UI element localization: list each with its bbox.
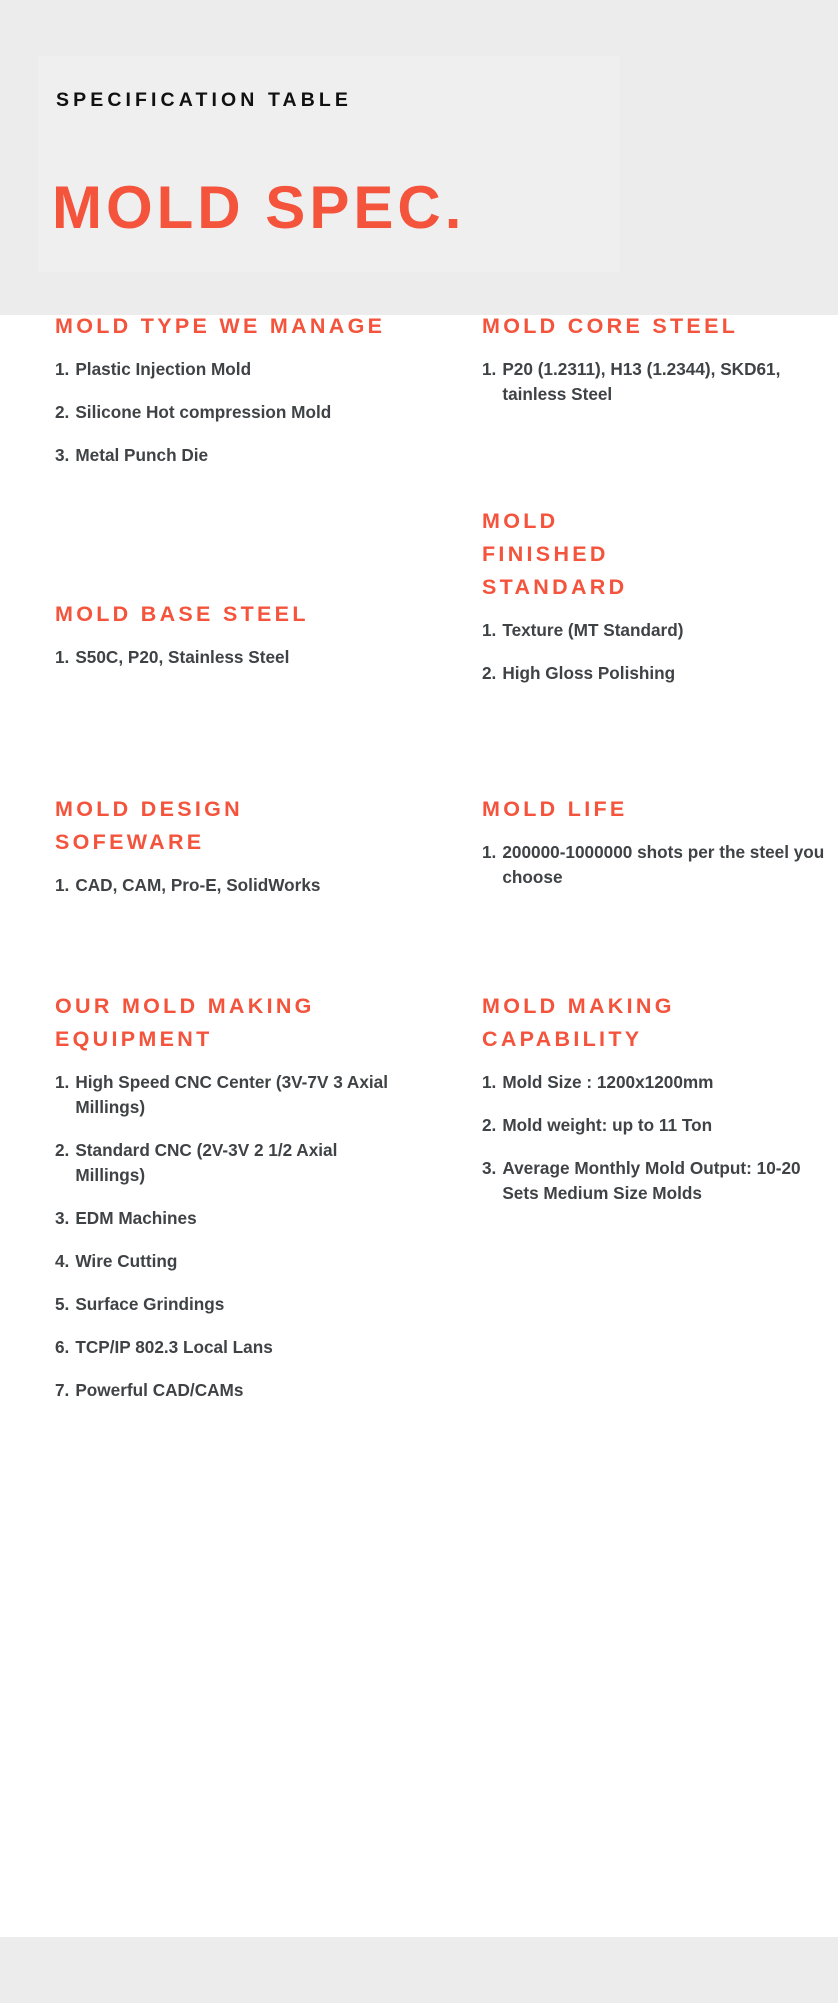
footer-band <box>0 1937 838 2003</box>
section-mold-finished-standard: MOLD FINISHED STANDARD 1. Texture (MT St… <box>482 505 838 686</box>
section-mold-core-steel: MOLD CORE STEEL 1. P20 (1.2311), H13 (1.… <box>482 310 838 407</box>
list-item-number: 5. <box>55 1292 69 1317</box>
list-item-text: Mold weight: up to 11 Ton <box>502 1113 838 1138</box>
list-item: 3. EDM Machines <box>55 1206 400 1231</box>
section-items: 1. Mold Size : 1200x1200mm 2. Mold weigh… <box>482 1070 838 1206</box>
list-item-text: S50C, P20, Stainless Steel <box>75 645 400 670</box>
list-item-number: 6. <box>55 1335 69 1360</box>
section-title: OUR MOLD MAKING EQUIPMENT <box>55 990 400 1056</box>
list-item-number: 2. <box>55 1138 69 1188</box>
list-item: 2. High Gloss Polishing <box>482 661 838 686</box>
list-item-number: 7. <box>55 1378 69 1403</box>
eyebrow-label: SPECIFICATION TABLE <box>56 89 352 112</box>
list-item-number: 3. <box>55 443 69 468</box>
section-title: MOLD LIFE <box>482 793 838 826</box>
list-item-number: 2. <box>55 400 69 425</box>
list-item-text: Powerful CAD/CAMs <box>75 1378 400 1403</box>
list-item-number: 1. <box>55 357 69 382</box>
section-items: 1. S50C, P20, Stainless Steel <box>55 645 400 670</box>
list-item: 2. Mold weight: up to 11 Ton <box>482 1113 838 1138</box>
section-mold-life: MOLD LIFE 1. 200000-1000000 shots per th… <box>482 793 838 890</box>
list-item-number: 1. <box>55 1070 69 1120</box>
list-item-text: Standard CNC (2V-3V 2 1/2 Axial Millings… <box>75 1138 400 1188</box>
section-items: 1. 200000-1000000 shots per the steel yo… <box>482 840 838 890</box>
list-item-text: Average Monthly Mold Output: 10-20 Sets … <box>502 1156 838 1206</box>
list-item-number: 1. <box>55 645 69 670</box>
list-item-number: 3. <box>55 1206 69 1231</box>
section-mold-making-capability: MOLD MAKING CAPABILITY 1. Mold Size : 12… <box>482 990 838 1206</box>
section-items: 1. P20 (1.2311), H13 (1.2344), SKD61, ta… <box>482 357 838 407</box>
list-item: 1. Texture (MT Standard) <box>482 618 838 643</box>
list-item: 5. Surface Grindings <box>55 1292 400 1317</box>
list-item: 1. Plastic Injection Mold <box>55 357 400 382</box>
list-item-number: 1. <box>482 357 496 407</box>
list-item-number: 2. <box>482 661 496 686</box>
list-item-text: Metal Punch Die <box>75 443 400 468</box>
section-items: 1. High Speed CNC Center (3V-7V 3 Axial … <box>55 1070 400 1403</box>
list-item-number: 1. <box>482 840 496 890</box>
header-band: SPECIFICATION TABLE MOLD SPEC. <box>0 0 838 315</box>
section-items: 1. CAD, CAM, Pro-E, SolidWorks <box>55 873 400 898</box>
section-title: MOLD FINISHED STANDARD <box>482 505 682 604</box>
list-item: 1. High Speed CNC Center (3V-7V 3 Axial … <box>55 1070 400 1120</box>
section-mold-type-we-manage: MOLD TYPE WE MANAGE 1. Plastic Injection… <box>55 310 400 468</box>
list-item-number: 4. <box>55 1249 69 1274</box>
list-item-text: Surface Grindings <box>75 1292 400 1317</box>
list-item-text: Texture (MT Standard) <box>502 618 838 643</box>
section-title: MOLD CORE STEEL <box>482 310 838 343</box>
list-item-text: 200000-1000000 shots per the steel you c… <box>502 840 838 890</box>
list-item-text: Mold Size : 1200x1200mm <box>502 1070 838 1095</box>
section-our-mold-making-equipment: OUR MOLD MAKING EQUIPMENT 1. High Speed … <box>55 990 400 1403</box>
list-item: 1. 200000-1000000 shots per the steel yo… <box>482 840 838 890</box>
section-mold-base-steel: MOLD BASE STEEL 1. S50C, P20, Stainless … <box>55 598 400 670</box>
list-item-text: CAD, CAM, Pro-E, SolidWorks <box>75 873 400 898</box>
section-title: MOLD TYPE WE MANAGE <box>55 310 400 343</box>
section-title: MOLD DESIGN SOFEWARE <box>55 793 400 859</box>
list-item: 1. CAD, CAM, Pro-E, SolidWorks <box>55 873 400 898</box>
section-title: MOLD MAKING CAPABILITY <box>482 990 838 1056</box>
list-item-text: EDM Machines <box>75 1206 400 1231</box>
list-item: 2. Standard CNC (2V-3V 2 1/2 Axial Milli… <box>55 1138 400 1188</box>
section-items: 1. Plastic Injection Mold 2. Silicone Ho… <box>55 357 400 468</box>
list-item-number: 3. <box>482 1156 496 1206</box>
list-item-number: 1. <box>482 1070 496 1095</box>
list-item-number: 1. <box>55 873 69 898</box>
list-item: 6. TCP/IP 802.3 Local Lans <box>55 1335 400 1360</box>
list-item-text: Silicone Hot compression Mold <box>75 400 400 425</box>
list-item-text: Plastic Injection Mold <box>75 357 400 382</box>
list-item: 4. Wire Cutting <box>55 1249 400 1274</box>
list-item: 3. Metal Punch Die <box>55 443 400 468</box>
list-item: 1. S50C, P20, Stainless Steel <box>55 645 400 670</box>
section-title: MOLD BASE STEEL <box>55 598 400 631</box>
list-item: 7. Powerful CAD/CAMs <box>55 1378 400 1403</box>
section-items: 1. Texture (MT Standard) 2. High Gloss P… <box>482 618 838 686</box>
list-item: 3. Average Monthly Mold Output: 10-20 Se… <box>482 1156 838 1206</box>
list-item-number: 1. <box>482 618 496 643</box>
list-item-number: 2. <box>482 1113 496 1138</box>
page-title: MOLD SPEC. <box>52 178 465 238</box>
list-item-text: High Gloss Polishing <box>502 661 838 686</box>
spec-table-body: MOLD TYPE WE MANAGE 1. Plastic Injection… <box>0 315 838 1937</box>
list-item-text: Wire Cutting <box>75 1249 400 1274</box>
list-item-text: P20 (1.2311), H13 (1.2344), SKD61, tainl… <box>502 357 838 407</box>
list-item-text: TCP/IP 802.3 Local Lans <box>75 1335 400 1360</box>
list-item-text: High Speed CNC Center (3V-7V 3 Axial Mil… <box>75 1070 400 1120</box>
list-item: 1. Mold Size : 1200x1200mm <box>482 1070 838 1095</box>
section-mold-design-sofeware: MOLD DESIGN SOFEWARE 1. CAD, CAM, Pro-E,… <box>55 793 400 898</box>
list-item: 1. P20 (1.2311), H13 (1.2344), SKD61, ta… <box>482 357 838 407</box>
list-item: 2. Silicone Hot compression Mold <box>55 400 400 425</box>
